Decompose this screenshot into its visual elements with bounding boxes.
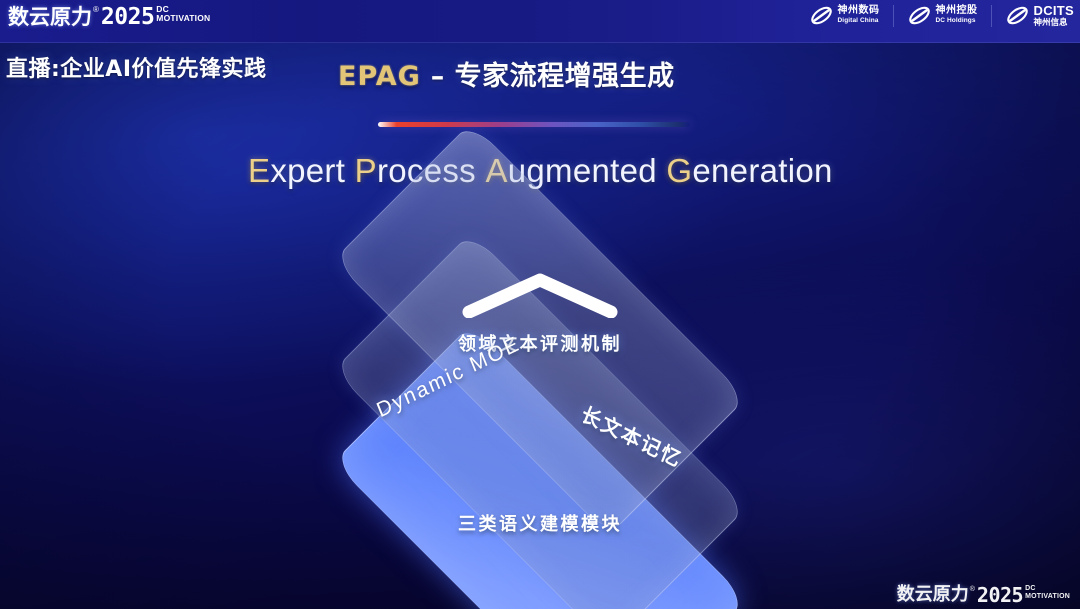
title-dash: – [421,61,455,92]
logo-dc-holdings-en: DC Holdings [936,18,978,25]
logo-dc-holdings: 神州控股 DC Holdings [907,3,978,28]
logo-dcits-en: DCITS [1034,4,1075,17]
swirl-logo-icon [1005,3,1030,28]
title-acronym: EPAG [338,61,421,92]
watermark-year: 2025 [977,585,1023,605]
subtitle-word-1-rest: xpert [270,152,345,189]
subtitle-word-2-cap: P [355,152,377,189]
logo-digital-china-en: Digital China [838,18,880,25]
watermark-tagline-line2: MOTIVATION [1025,593,1070,601]
title-chinese: 专家流程增强生成 [455,61,675,92]
watermark-tagline: DC MOTIVATION [1025,585,1070,601]
swirl-logo-icon [809,3,834,28]
brand-logo: 数云原力 ® 2025 DC MOTIVATION [8,5,210,29]
brand-name-cn: 数云原力 [8,5,92,29]
logo-digital-china-cn: 神州数码 [838,6,880,16]
subtitle-english: Expert Process Augmented Generation [248,152,833,190]
subtitle-word-2-rest: rocess [377,152,476,189]
subtitle-word-3-cap: A [485,152,507,189]
logo-divider-2 [991,5,992,27]
brand-registered-mark: ® [93,5,99,15]
brand-tagline: DC MOTIVATION [156,5,210,23]
subtitle-word-4-rest: eneration [692,152,832,189]
logo-dcits: DCITS 神州信息 [1005,3,1075,28]
logo-divider-1 [893,5,894,27]
watermark-tagline-line1: DC [1025,585,1070,593]
subtitle-word-3-rest: ugmented [508,152,657,189]
live-stream-title: 直播:企业AI价值先锋实践 [6,51,267,83]
subtitle-word-4-cap: G [666,152,692,189]
page-title: EPAG – 专家流程增强生成 [338,54,675,93]
watermark-registered-mark: ® [970,585,975,595]
subtitle-word-1-cap: E [248,152,270,189]
logo-dc-holdings-cn: 神州控股 [936,6,978,16]
partner-logos: 神州数码 Digital China 神州控股 DC Holdings [809,3,1075,28]
footer-watermark: 数云原力 ® 2025 DC MOTIVATION [897,585,1070,605]
header-band: 数云原力 ® 2025 DC MOTIVATION 神州数码 Digital C… [0,0,1080,43]
brand-year: 2025 [101,5,154,29]
brand-tagline-line2: MOTIVATION [156,14,210,23]
swirl-logo-icon [907,3,932,28]
logo-dcits-cn: 神州信息 [1034,19,1075,28]
gradient-divider [378,122,690,127]
logo-digital-china: 神州数码 Digital China [809,3,880,28]
watermark-brand-cn: 数云原力 [897,585,969,605]
